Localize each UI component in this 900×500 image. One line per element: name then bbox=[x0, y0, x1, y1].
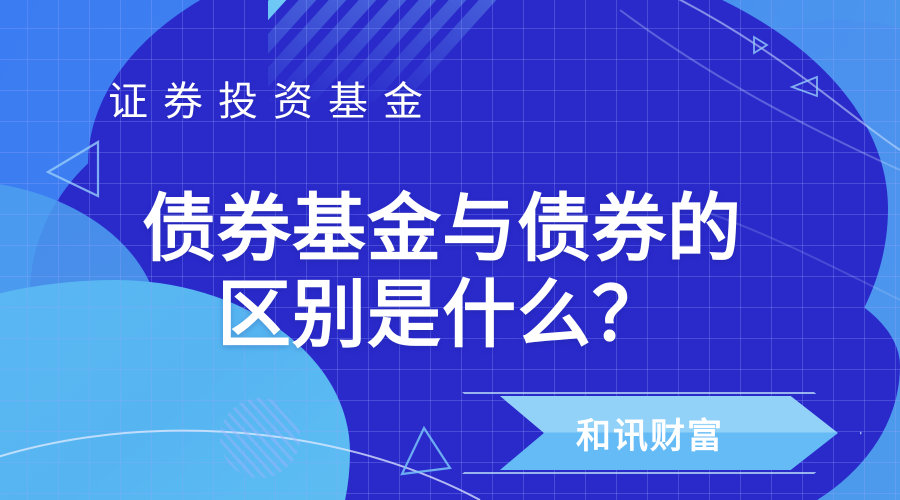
brand-label: 和讯财富 bbox=[500, 396, 800, 470]
title-line-2: 区别是什么？ bbox=[0, 272, 884, 358]
brand-ribbon: 和讯财富 bbox=[462, 392, 862, 474]
category-label: 证券投资基金 bbox=[108, 78, 438, 126]
triangle-outline-icon-right bbox=[788, 74, 822, 100]
triangle-outline-icon-topright bbox=[748, 34, 772, 56]
page-title: 债券基金与债券的 区别是什么？ bbox=[0, 186, 884, 358]
halftone-circle-decoration bbox=[220, 398, 300, 478]
title-line-1: 债券基金与债券的 bbox=[0, 186, 884, 272]
triangle-outline-icon-bottom bbox=[398, 424, 458, 480]
poster-canvas: 证券投资基金 债券基金与债券的 区别是什么？ 和讯财富 bbox=[0, 0, 900, 500]
